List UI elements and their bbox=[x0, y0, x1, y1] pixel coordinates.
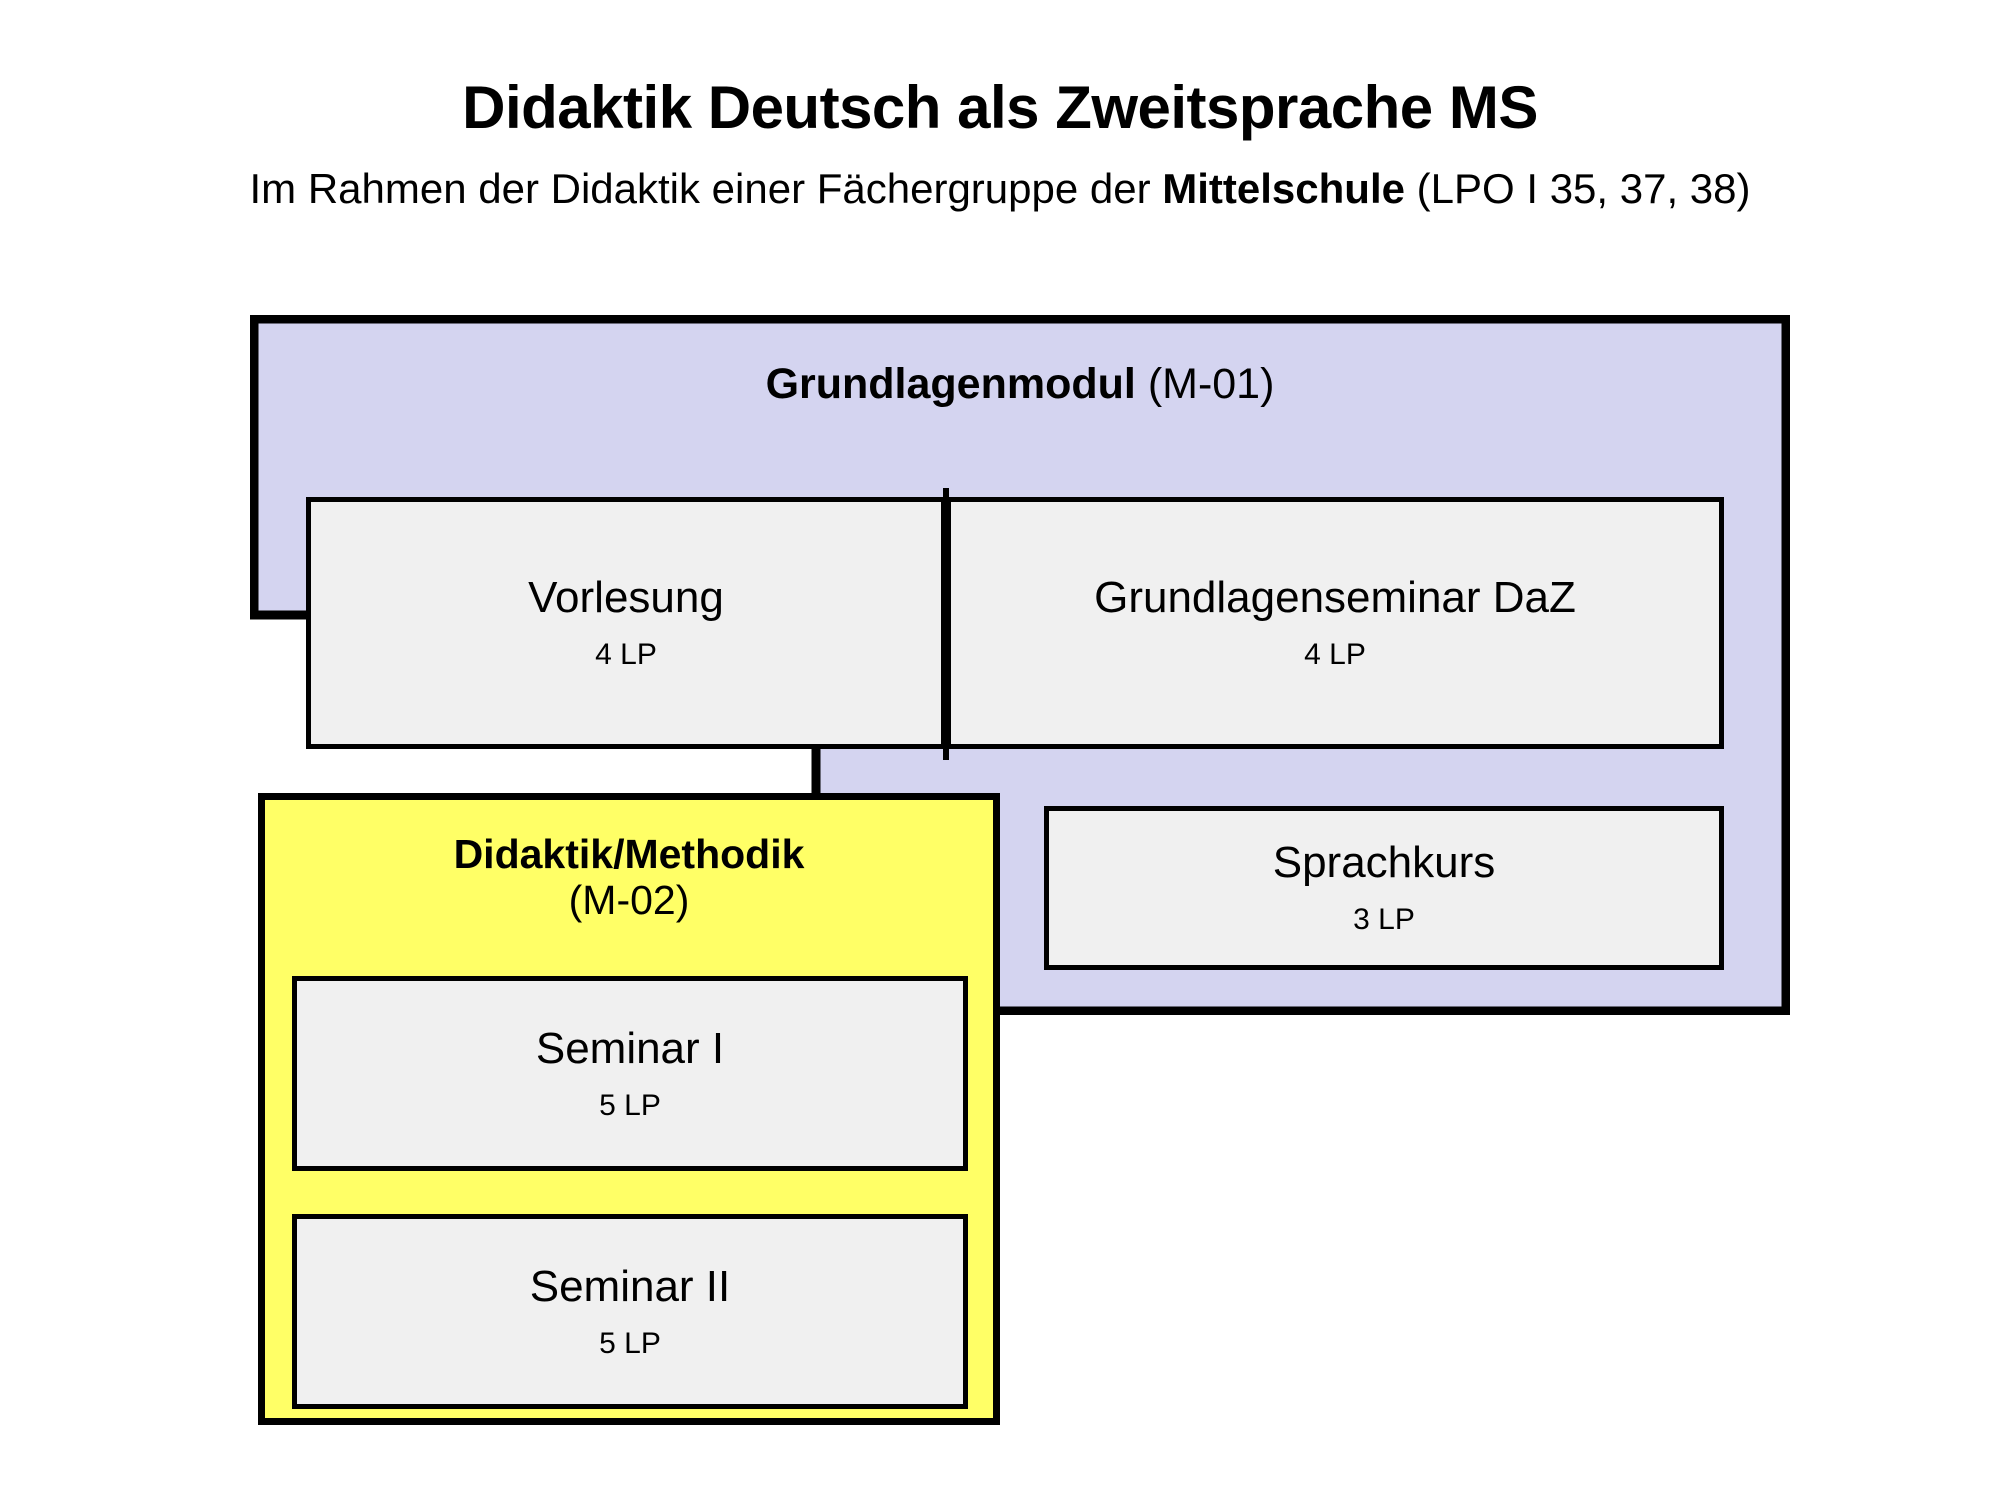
course-box-seminar-1[interactable]: Seminar I 5 LP bbox=[292, 976, 968, 1171]
course-box-grundlagenseminar[interactable]: Grundlagenseminar DaZ 4 LP bbox=[946, 497, 1724, 749]
course-title-grundlagenseminar: Grundlagenseminar DaZ bbox=[1094, 576, 1576, 620]
module-m02-heading: Didaktik/Methodik (M-02) bbox=[265, 832, 993, 924]
module-diagram: Grundlagenmodul (M-01) Vorlesung 4 LP Gr… bbox=[0, 0, 2000, 1500]
course-title-vorlesung: Vorlesung bbox=[528, 576, 724, 620]
course-lp-seminar-1: 5 LP bbox=[599, 1091, 661, 1121]
course-box-sprachkurs[interactable]: Sprachkurs 3 LP bbox=[1044, 806, 1724, 970]
module-m01-name: Grundlagenmodul bbox=[766, 360, 1136, 408]
course-box-seminar-2[interactable]: Seminar II 5 LP bbox=[292, 1214, 968, 1409]
module-m02-code: (M-02) bbox=[569, 877, 690, 923]
course-box-vorlesung[interactable]: Vorlesung 4 LP bbox=[306, 497, 946, 749]
course-title-sprachkurs: Sprachkurs bbox=[1273, 841, 1496, 885]
course-lp-sprachkurs: 3 LP bbox=[1353, 905, 1415, 935]
module-m02-name: Didaktik/Methodik bbox=[454, 831, 805, 877]
course-lp-vorlesung: 4 LP bbox=[595, 640, 657, 670]
course-title-seminar-2: Seminar II bbox=[530, 1265, 731, 1309]
course-lp-grundlagenseminar: 4 LP bbox=[1304, 640, 1366, 670]
dashed-divider bbox=[943, 488, 949, 760]
course-title-seminar-1: Seminar I bbox=[536, 1027, 724, 1071]
course-lp-seminar-2: 5 LP bbox=[599, 1329, 661, 1359]
module-m01-heading: Grundlagenmodul (M-01) bbox=[250, 360, 1790, 408]
module-m01-code: (M-01) bbox=[1148, 360, 1275, 408]
